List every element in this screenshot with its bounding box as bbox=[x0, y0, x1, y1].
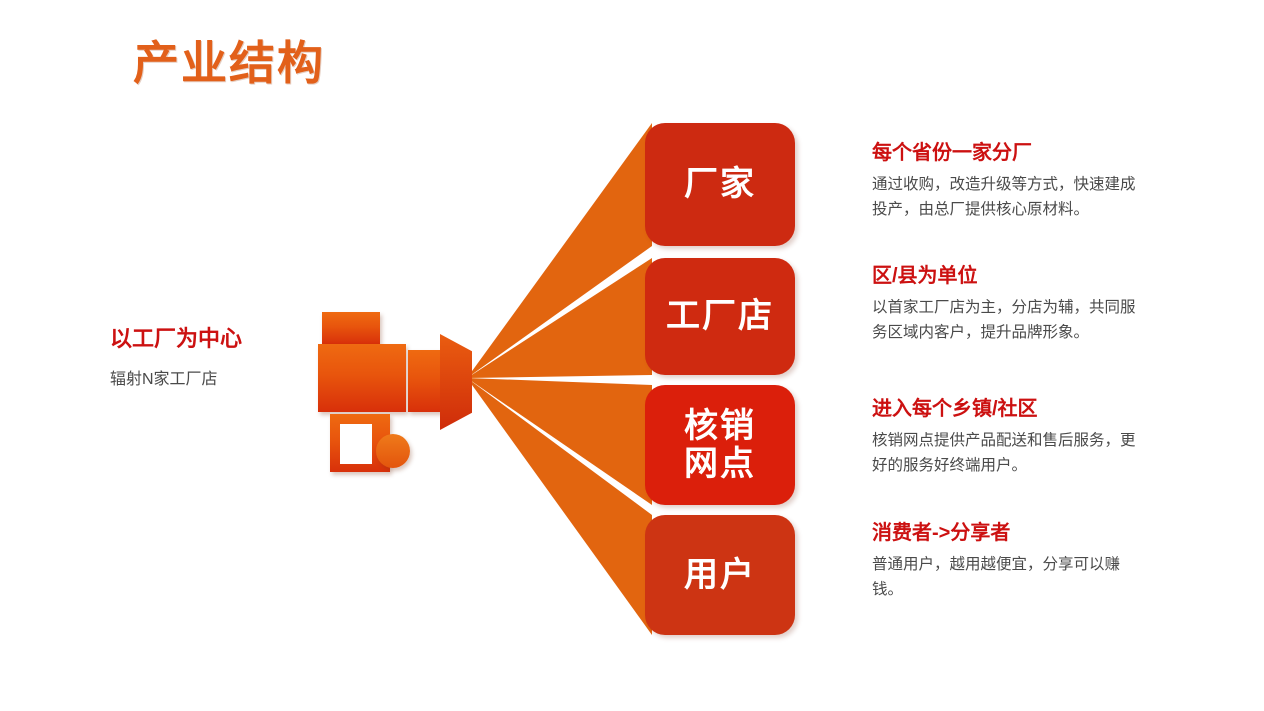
projector-knob bbox=[376, 434, 410, 468]
projector-top-block bbox=[322, 312, 380, 344]
beam-group bbox=[467, 123, 652, 635]
projector-icon bbox=[318, 312, 478, 472]
beam-to-stage-1 bbox=[467, 258, 652, 378]
slide-canvas: 产业结构 以工厂为中心 辐射N家工厂店 厂家 工厂店 核销 网点 bbox=[0, 0, 1264, 711]
info-block-redemption-node: 进入每个乡镇/社区 核销网点提供产品配送和售后服务，更好的服务好终端用户。 bbox=[872, 396, 1147, 478]
beam-to-stage-0 bbox=[467, 123, 652, 378]
stage-box-label-line-2: 网点 bbox=[684, 445, 756, 483]
projector-horn bbox=[440, 334, 472, 430]
page-title: 产业结构 bbox=[133, 38, 325, 89]
left-caption-subtext: 辐射N家工厂店 bbox=[110, 368, 340, 392]
stage-box-label: 工厂店 bbox=[666, 297, 774, 335]
stage-box-factory-store[interactable]: 工厂店 bbox=[645, 258, 795, 375]
stage-box-label: 核销 网点 bbox=[684, 407, 756, 483]
info-block-heading: 区/县为单位 bbox=[872, 263, 1147, 289]
projector-lens-block bbox=[408, 350, 444, 412]
stage-box-manufacturer[interactable]: 厂家 bbox=[645, 123, 795, 246]
info-block-body: 通过收购，改造升级等方式，快速建成投产，由总厂提供核心原材料。 bbox=[872, 172, 1147, 222]
stage-box-user[interactable]: 用户 bbox=[645, 515, 795, 635]
projector-body-block bbox=[318, 344, 406, 412]
info-block-user: 消费者->分享者 普通用户，越用越便宜，分享可以赚钱。 bbox=[872, 520, 1147, 602]
info-block-heading: 消费者->分享者 bbox=[872, 520, 1147, 546]
info-block-factory-store: 区/县为单位 以首家工厂店为主，分店为辅，共同服务区域内客户，提升品牌形象。 bbox=[872, 263, 1147, 345]
info-block-body: 普通用户，越用越便宜，分享可以赚钱。 bbox=[872, 552, 1147, 602]
info-block-manufacturer: 每个省份一家分厂 通过收购，改造升级等方式，快速建成投产，由总厂提供核心原材料。 bbox=[872, 140, 1147, 222]
info-block-body: 以首家工厂店为主，分店为辅，共同服务区域内客户，提升品牌形象。 bbox=[872, 295, 1147, 345]
beam-to-stage-3 bbox=[467, 378, 652, 635]
info-block-heading: 每个省份一家分厂 bbox=[872, 140, 1147, 166]
info-block-heading: 进入每个乡镇/社区 bbox=[872, 396, 1147, 422]
info-block-body: 核销网点提供产品配送和售后服务，更好的服务好终端用户。 bbox=[872, 428, 1147, 478]
left-caption: 以工厂为中心 辐射N家工厂店 bbox=[110, 325, 340, 392]
projector-window bbox=[340, 424, 372, 464]
stage-box-label-line-1: 核销 bbox=[684, 407, 756, 445]
stage-box-label: 用户 bbox=[684, 556, 756, 594]
stage-box-redemption-node[interactable]: 核销 网点 bbox=[645, 385, 795, 505]
stage-box-label: 厂家 bbox=[684, 165, 756, 203]
left-caption-heading: 以工厂为中心 bbox=[110, 325, 340, 354]
beam-to-stage-2 bbox=[467, 378, 652, 505]
